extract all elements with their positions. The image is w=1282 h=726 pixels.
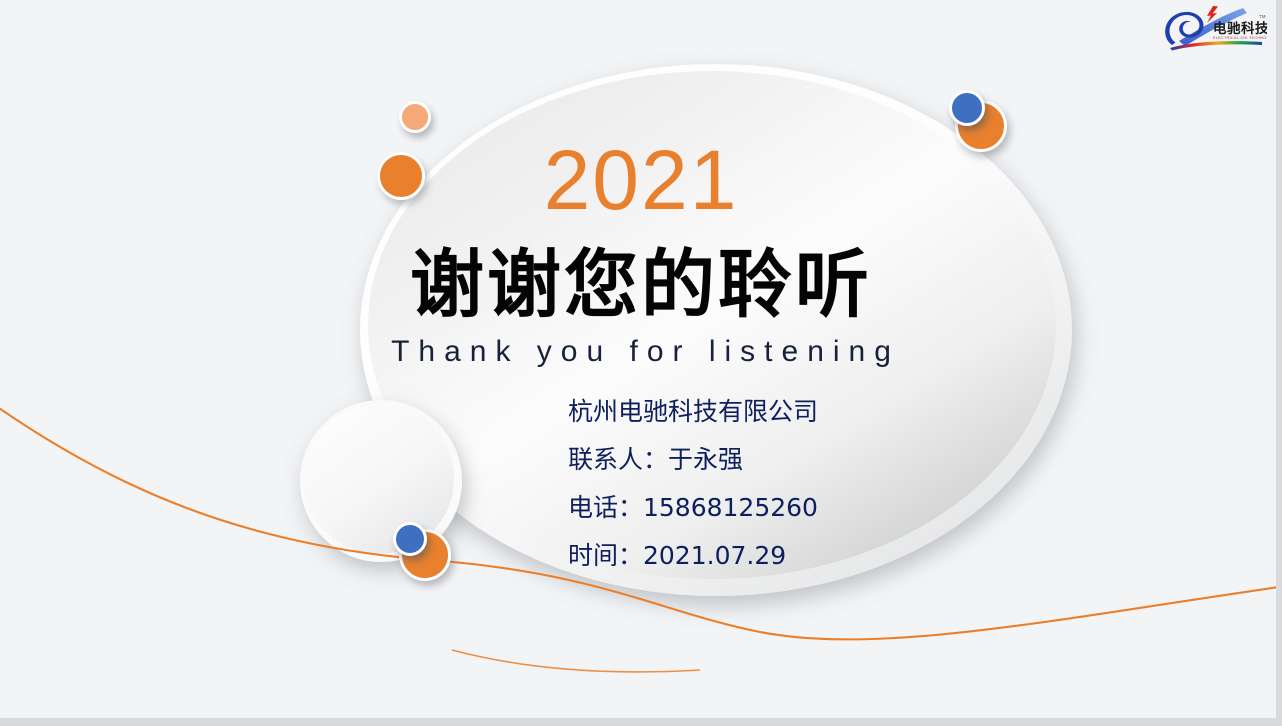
headline-english: Thank you for listening: [0, 334, 1282, 370]
contact-date: 时间：2021.07.29: [568, 532, 1028, 580]
logo-english-text: ELECTRICAL CHI TECHNOLOGY: [1213, 36, 1267, 40]
company-logo: 电驰科技 TM ELECTRICAL CHI TECHNOLOGY: [1159, 5, 1267, 51]
slide-content: 2021 谢谢您的聆听 Thank you for listening 杭州电驰…: [0, 0, 1282, 726]
contact-phone: 电话：15868125260: [568, 484, 1028, 532]
contact-info-block: 杭州电驰科技有限公司 联系人：于永强 电话：15868125260 时间：202…: [568, 388, 1028, 580]
logo-chinese-text: 电驰科技: [1213, 20, 1267, 37]
year-title: 2021: [0, 134, 1282, 226]
presentation-slide: 2021 谢谢您的聆听 Thank you for listening 杭州电驰…: [0, 0, 1282, 726]
headline-chinese: 谢谢您的聆听: [0, 243, 1282, 327]
contact-company: 杭州电驰科技有限公司: [568, 388, 1028, 436]
contact-person: 联系人：于永强: [568, 436, 1028, 484]
logo-trademark: TM: [1259, 14, 1266, 19]
